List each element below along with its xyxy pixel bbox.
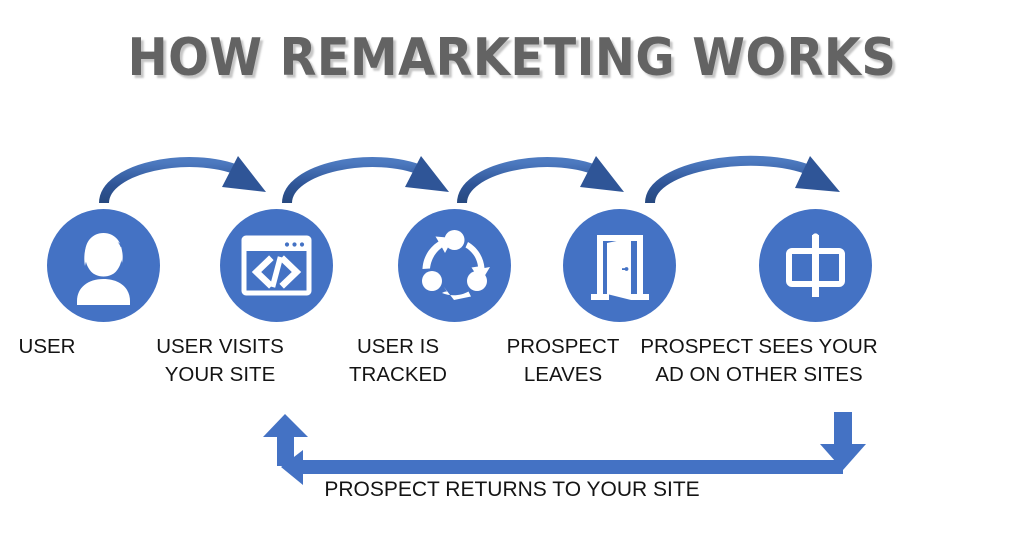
step-circle-2[interactable]: [220, 209, 333, 322]
connector-arrow-1: [104, 156, 266, 203]
return-loop-up-arrow: [263, 414, 308, 466]
step-circle-4[interactable]: [563, 209, 676, 322]
browser-code-icon: [220, 209, 333, 322]
tracking-cycle-icon: [398, 209, 511, 322]
step-circle-3[interactable]: [398, 209, 511, 322]
infographic-canvas: HOW REMARKETING WORKS: [0, 0, 1024, 553]
connector-arrow-3: [462, 156, 624, 203]
page-title: HOW REMARKETING WORKS: [41, 28, 983, 88]
return-loop-caption: PROSPECT RETURNS TO YOUR SITE: [0, 478, 1024, 502]
billboard-sign-icon: [759, 209, 872, 322]
connector-arrow-4: [650, 156, 840, 203]
step-label-5: PROSPECT SEES YOUR AD ON OTHER SITES: [609, 333, 909, 390]
connector-arrow-2: [287, 156, 449, 203]
user-avatar-icon: [47, 209, 160, 322]
step-circle-5[interactable]: [759, 209, 872, 322]
step-circle-1[interactable]: [47, 209, 160, 322]
return-loop-down-arrow: [820, 412, 866, 470]
open-door-icon: [563, 209, 676, 322]
